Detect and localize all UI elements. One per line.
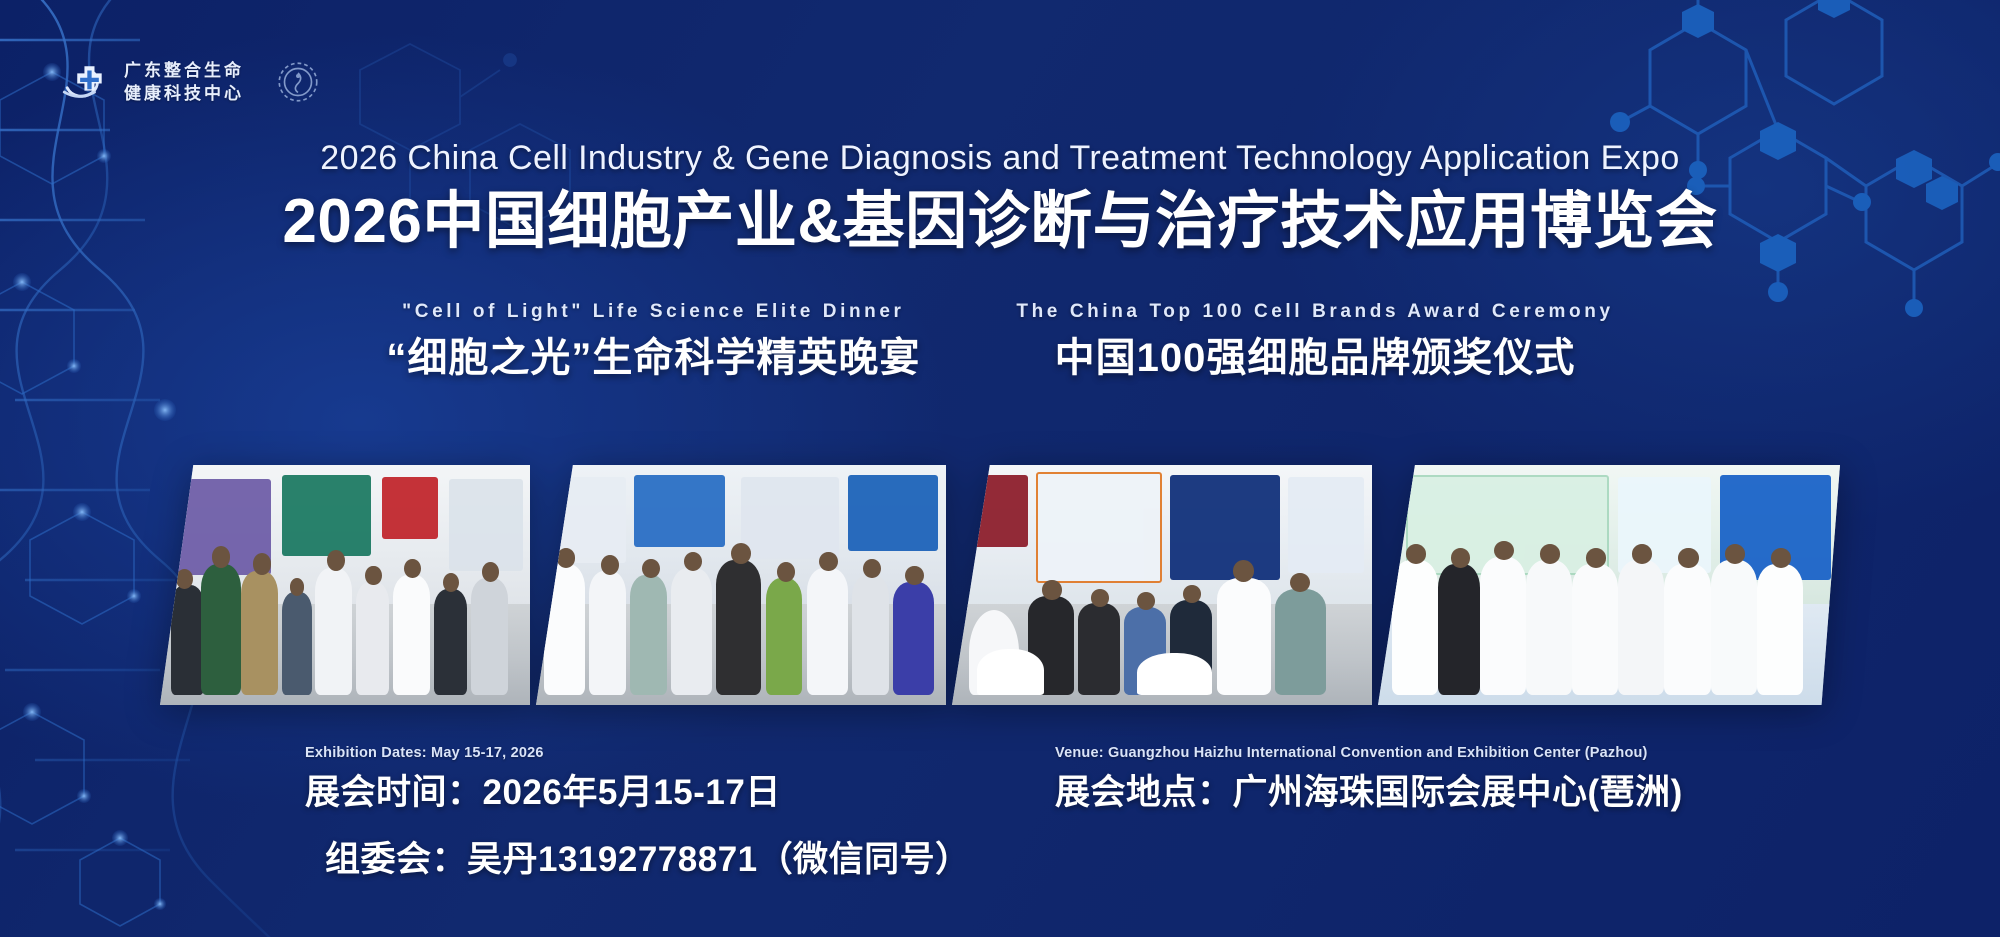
title-chinese: 2026中国细胞产业&基因诊断与治疗技术应用博览会 — [0, 187, 2000, 256]
dates-chinese: 展会时间：2026年5月15-17日 — [305, 771, 945, 815]
logo-name-line1: 广东整合生命 — [124, 61, 244, 81]
info-row: Exhibition Dates: May 15-17, 2026 展会时间：2… — [0, 745, 2000, 815]
sub-event-award-chinese: 中国100强细胞品牌颁奖仪式 — [1016, 334, 1613, 382]
logo-text: 广东整合生命 健康科技中心 — [124, 61, 244, 103]
sub-event-award-english: The China Top 100 Cell Brands Award Cere… — [1016, 300, 1613, 325]
title-block: 2026 China Cell Industry & Gene Diagnosi… — [0, 140, 2000, 257]
medical-cross-logo-icon — [60, 59, 106, 105]
sub-event-dinner: "Cell of Light" Life Science Elite Dinne… — [386, 300, 920, 382]
info-venue: Venue: Guangzhou Haizhu International Co… — [1055, 745, 1695, 815]
expo-poster: 广东整合生命 健康科技中心 2026 China Cell Industry &… — [0, 0, 2000, 937]
photo-staff-group-white-coats — [1378, 465, 1840, 705]
photo-strip — [160, 465, 1840, 705]
dates-english: Exhibition Dates: May 15-17, 2026 — [305, 745, 945, 762]
logo-row: 广东整合生命 健康科技中心 — [60, 58, 322, 106]
info-block: Exhibition Dates: May 15-17, 2026 展会时间：2… — [0, 745, 2000, 882]
photo-booth-meeting-tables — [952, 465, 1372, 705]
contact-wrap: 组委会：吴丹13192778871（微信同号） — [0, 815, 2000, 882]
venue-english: Venue: Guangzhou Haizhu International Co… — [1055, 745, 1695, 762]
sub-event-dinner-english: "Cell of Light" Life Science Elite Dinne… — [386, 300, 920, 325]
info-dates: Exhibition Dates: May 15-17, 2026 展会时间：2… — [305, 745, 945, 815]
sub-event-dinner-chinese: “细胞之光”生命科学精英晚宴 — [386, 334, 920, 382]
sub-events: "Cell of Light" Life Science Elite Dinne… — [0, 300, 2000, 382]
venue-chinese: 展会地点：广州海珠国际会展中心(琶洲) — [1055, 771, 1695, 815]
sub-event-award: The China Top 100 Cell Brands Award Cere… — [1016, 300, 1613, 382]
photo-exhibition-hall-visitors — [160, 465, 530, 705]
photo-exhibition-aisle-crowd — [536, 465, 946, 705]
title-english: 2026 China Cell Industry & Gene Diagnosi… — [0, 140, 2000, 177]
gear-seal-logo-icon — [274, 58, 322, 106]
organizer-contact: 组委会：吴丹13192778871（微信同号） — [305, 831, 1695, 882]
logo-name-line2: 健康科技中心 — [124, 84, 244, 104]
